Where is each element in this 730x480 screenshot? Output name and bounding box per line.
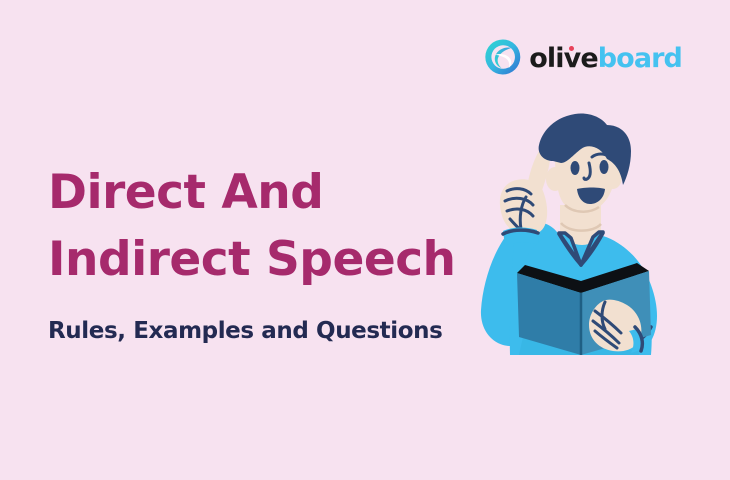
oliveboard-logo[interactable]: oliveboard — [484, 38, 682, 76]
logo-word-board: board — [598, 43, 682, 74]
man-pointing-holding-open-book-illustration — [455, 105, 705, 355]
logo-word-olive: olive — [529, 43, 597, 74]
oliveboard-wordmark: oliveboard — [529, 45, 682, 72]
page-title: Direct And Indirect Speech — [48, 160, 508, 293]
oliveboard-swirl-icon — [484, 38, 522, 76]
banner-root: oliveboard Direct And Indirect Speech Ru… — [0, 0, 730, 480]
eye-left — [571, 161, 580, 175]
head — [539, 114, 631, 212]
page-subtitle: Rules, Examples and Questions — [48, 293, 508, 344]
eye-right — [600, 160, 609, 174]
text-block: Direct And Indirect Speech Rules, Exampl… — [48, 160, 508, 344]
logo-i-dot-icon — [569, 46, 574, 51]
pointing-hand-icon — [500, 149, 550, 236]
